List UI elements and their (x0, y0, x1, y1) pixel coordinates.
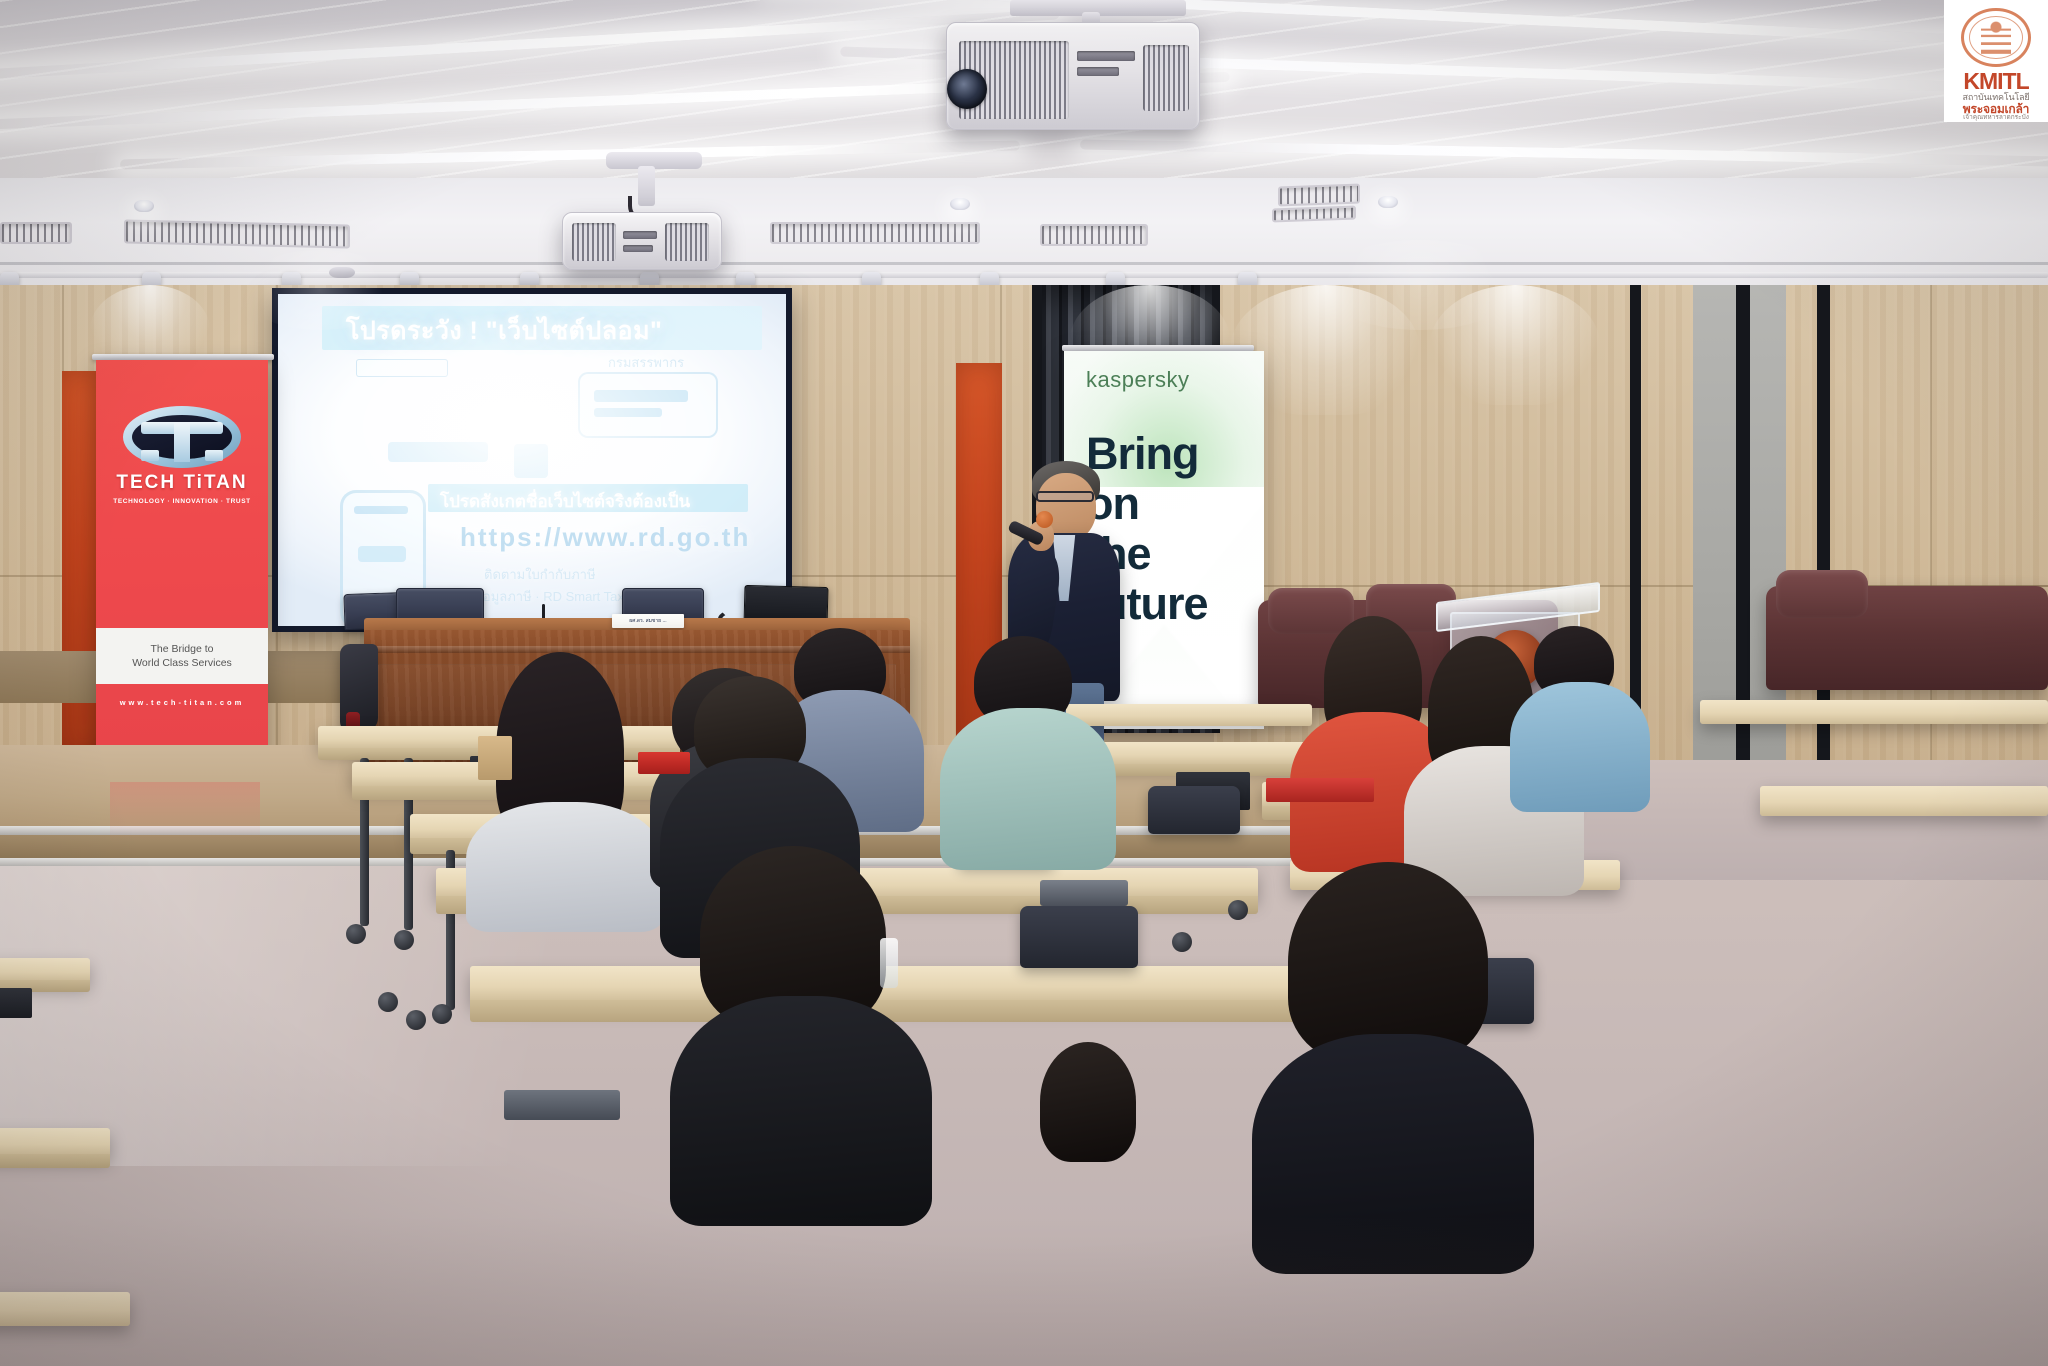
red-folder (1266, 778, 1374, 802)
slide-illustration-chip (388, 442, 488, 462)
smoke-detector-icon (329, 267, 355, 278)
linear-air-diffuser (770, 222, 980, 244)
presenter-name-card-text: ผศ.ดร. สมชาย ... (629, 617, 666, 625)
linear-air-diffuser (1040, 224, 1148, 246)
task-chair (1148, 786, 1240, 834)
laptop-on-desk (1040, 880, 1128, 906)
lighting-track (0, 272, 1260, 278)
tech-titan-banner: TECH TiTAN TECHNOLOGY · INNOVATION · TRU… (96, 360, 268, 780)
audience-torso (670, 996, 932, 1226)
linear-air-diffuser (1272, 206, 1356, 223)
student-desk (0, 1292, 130, 1326)
panel-reveal-trim (1736, 285, 1750, 825)
audience-torso (1252, 1034, 1534, 1274)
wood-panel-seam (1930, 285, 1932, 815)
tech-titan-url: www.tech-titan.com (96, 698, 268, 707)
slide-decorative-box (356, 359, 448, 377)
audience-torso (466, 802, 664, 932)
tech-titan-t-emblem-icon (123, 406, 241, 468)
desk-castor (432, 1004, 452, 1024)
banner-floor-reflection (110, 782, 260, 842)
desk-castor (406, 1010, 426, 1030)
grey-stone-panel (1693, 285, 1736, 825)
ceiling-downlight (134, 200, 154, 212)
linear-air-diffuser (124, 219, 350, 248)
projector-vent (665, 223, 709, 261)
lecture-hall-photo: โปรดระวัง ! "เว็บไซต์ปลอม" กรมสรรพากร โป… (0, 0, 2048, 1366)
tech-titan-brand-name: TECH TiTAN (96, 472, 268, 494)
tech-titan-slogan-line1: The Bridge to (132, 642, 232, 656)
slide-illustration-bar (594, 390, 688, 402)
eyeglasses-icon (1036, 491, 1094, 502)
lighting-track (1255, 272, 2048, 278)
desk-cable-module (0, 988, 32, 1018)
clipboard (478, 736, 512, 780)
ceiling-downlight (950, 198, 970, 210)
audience-torso (1510, 682, 1650, 812)
slide-illustration-bar (594, 408, 662, 417)
ceiling-shadow-line (0, 262, 2048, 265)
kmitl-thai-line3: เจ้าคุณทหารลาดกระบัง (1963, 115, 2029, 122)
ceiling-downlight (1378, 196, 1398, 208)
slide-badge (358, 546, 406, 562)
student-desk (1700, 700, 2048, 724)
desk-castor (346, 924, 366, 944)
panel-reveal-trim (1817, 285, 1830, 825)
slide-illustration-bar (354, 506, 408, 514)
linear-air-diffuser (1278, 184, 1360, 207)
projector-port-panel (1077, 51, 1135, 61)
audience-hair (1040, 1042, 1136, 1162)
slide-illustration-chip (514, 444, 548, 478)
red-notebook (638, 752, 690, 774)
projector-lens (947, 69, 987, 109)
laptop-on-desk (504, 1090, 620, 1120)
grey-stone-panel (1750, 285, 1786, 825)
presenter-name-card: ผศ.ดร. สมชาย ... (612, 614, 684, 628)
microphone-head-icon (1036, 511, 1053, 528)
ceiling-projector (946, 22, 1200, 130)
desk-castor (1172, 932, 1192, 952)
tech-titan-slogan: The Bridge to World Class Services (132, 642, 232, 670)
sofa-cushion (1268, 588, 1354, 634)
projector-port-panel (1077, 67, 1119, 76)
task-chair (1020, 906, 1138, 968)
slide-note: ติดตามใบกำกับภาษี (484, 564, 596, 585)
student-desk (1760, 786, 2048, 816)
desk-castor (394, 930, 414, 950)
linear-air-diffuser (0, 222, 72, 244)
audience-hair (1288, 862, 1488, 1062)
slide-subtitle: โปรดสังเกตชื่อเว็บไซต์จริงต้องเป็น (440, 488, 690, 515)
crown-glyph-icon (1981, 21, 2011, 55)
tech-titan-tagline: TECHNOLOGY · INNOVATION · TRUST (96, 498, 268, 505)
projector-vent (1143, 45, 1189, 111)
tech-titan-white-panel: The Bridge to World Class Services (96, 628, 268, 684)
presentation-screen: โปรดระวัง ! "เว็บไซต์ปลอม" กรมสรรพากร โป… (278, 294, 786, 626)
kaspersky-brand-logo: kaspersky (1086, 367, 1190, 393)
student-desk-front (0, 1154, 110, 1168)
projector-vent (572, 223, 616, 261)
royal-crown-seal-icon (1961, 8, 2031, 67)
student-desk (1066, 704, 1312, 726)
slide-illustration-card (578, 372, 718, 438)
slide-title: โปรดระวัง ! "เว็บไซต์ปลอม" (346, 311, 662, 351)
desk-castor (378, 992, 398, 1012)
desk-castor (1228, 900, 1248, 920)
tech-titan-slogan-line2: World Class Services (132, 656, 232, 670)
sofa-cushion (1776, 570, 1868, 618)
projector-port-panel (623, 231, 657, 239)
kmitl-acronym: KMITL (1963, 70, 2028, 93)
slide-url: https://www.rd.go.th (460, 522, 750, 553)
water-bottle (880, 938, 898, 988)
audience-torso (940, 708, 1116, 870)
projector-port-panel (623, 245, 653, 252)
ceiling-projector (562, 212, 722, 270)
slide-note: ข้อมูลภาษี · RD Smart Tax (474, 586, 624, 607)
kmitl-logo-card: KMITL สถาบันเทคโนโลยี พระจอมเกล้า เจ้าคุ… (1944, 0, 2048, 122)
slide-note: กรมสรรพากร (608, 352, 684, 373)
